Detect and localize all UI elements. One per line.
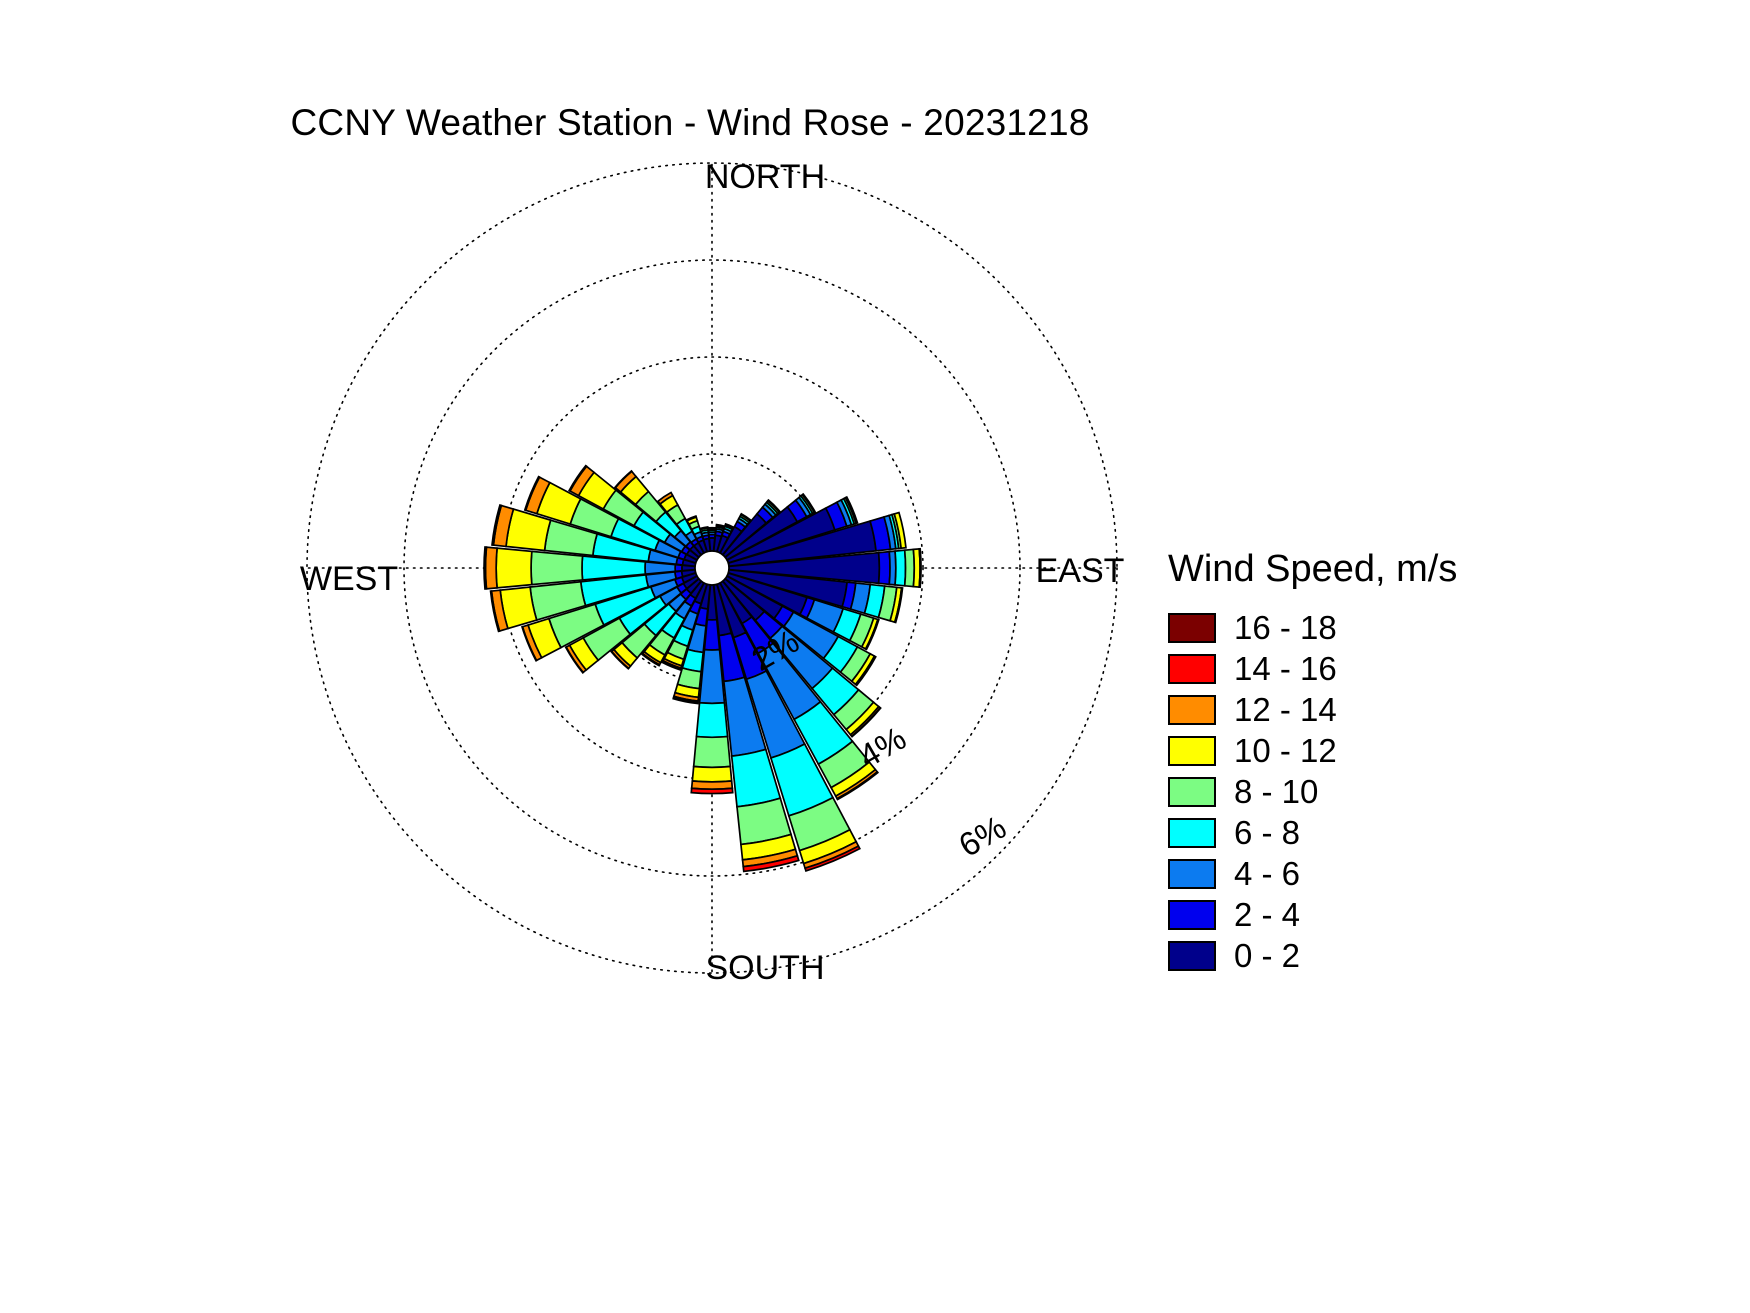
legend-item[interactable]: 6 - 8 bbox=[1160, 812, 1630, 853]
legend-label: 6 - 8 bbox=[1234, 814, 1300, 852]
rose-segment[interactable] bbox=[694, 737, 731, 768]
legend-label: 8 - 10 bbox=[1234, 773, 1318, 811]
legend-swatch bbox=[1168, 777, 1216, 807]
legend-rows: 16 - 1814 - 1612 - 1410 - 128 - 106 - 84… bbox=[1160, 607, 1630, 976]
rose-segment[interactable] bbox=[485, 547, 497, 589]
legend: Wind Speed, m/s 16 - 1814 - 1612 - 1410 … bbox=[1160, 548, 1630, 976]
legend-item[interactable]: 4 - 6 bbox=[1160, 853, 1630, 894]
legend-label: 2 - 4 bbox=[1234, 896, 1300, 934]
rose-segment[interactable] bbox=[696, 703, 727, 738]
legend-swatch bbox=[1168, 736, 1216, 766]
legend-label: 10 - 12 bbox=[1234, 732, 1337, 770]
legend-item[interactable]: 14 - 16 bbox=[1160, 648, 1630, 689]
legend-item[interactable]: 0 - 2 bbox=[1160, 935, 1630, 976]
cardinal-label-north: NORTH bbox=[705, 158, 825, 196]
rose-segment[interactable] bbox=[484, 547, 486, 589]
legend-label: 4 - 6 bbox=[1234, 855, 1300, 893]
radial-tick-label: 6% bbox=[952, 808, 1012, 864]
wind-rose-svg: NORTHEASTSOUTHWEST2%4%6% bbox=[0, 0, 1160, 1313]
cardinal-label-east: EAST bbox=[1036, 552, 1125, 590]
legend-item[interactable]: 16 - 18 bbox=[1160, 607, 1630, 648]
legend-label: 12 - 14 bbox=[1234, 691, 1337, 729]
rose-segment[interactable] bbox=[692, 767, 731, 782]
legend-label: 16 - 18 bbox=[1234, 609, 1337, 647]
center-hole bbox=[695, 551, 729, 585]
rose-petals bbox=[484, 466, 921, 872]
legend-label: 0 - 2 bbox=[1234, 937, 1300, 975]
legend-swatch bbox=[1168, 900, 1216, 930]
rose-segment[interactable] bbox=[496, 548, 532, 588]
rose-segment[interactable] bbox=[691, 788, 732, 793]
legend-item[interactable]: 2 - 4 bbox=[1160, 894, 1630, 935]
rose-segment[interactable] bbox=[905, 549, 915, 586]
legend-swatch bbox=[1168, 941, 1216, 971]
rose-segment[interactable] bbox=[531, 551, 582, 584]
legend-swatch bbox=[1168, 695, 1216, 725]
cardinal-label-south: SOUTH bbox=[706, 949, 825, 987]
rose-segment[interactable] bbox=[708, 528, 715, 529]
legend-swatch bbox=[1168, 654, 1216, 684]
legend-swatch bbox=[1168, 818, 1216, 848]
legend-item[interactable]: 10 - 12 bbox=[1160, 730, 1630, 771]
rose-segment[interactable] bbox=[895, 550, 905, 586]
rose-segment[interactable] bbox=[879, 552, 890, 585]
legend-item[interactable]: 12 - 14 bbox=[1160, 689, 1630, 730]
legend-swatch bbox=[1168, 859, 1216, 889]
cardinal-label-west: WEST bbox=[300, 560, 398, 598]
legend-label: 14 - 16 bbox=[1234, 650, 1337, 688]
wind-rose-chart: NORTHEASTSOUTHWEST2%4%6% bbox=[0, 0, 1160, 1313]
rose-segment[interactable] bbox=[919, 549, 921, 587]
legend-title: Wind Speed, m/s bbox=[1168, 548, 1630, 591]
rose-segment[interactable] bbox=[675, 565, 682, 572]
legend-item[interactable]: 8 - 10 bbox=[1160, 771, 1630, 812]
legend-swatch bbox=[1168, 613, 1216, 643]
